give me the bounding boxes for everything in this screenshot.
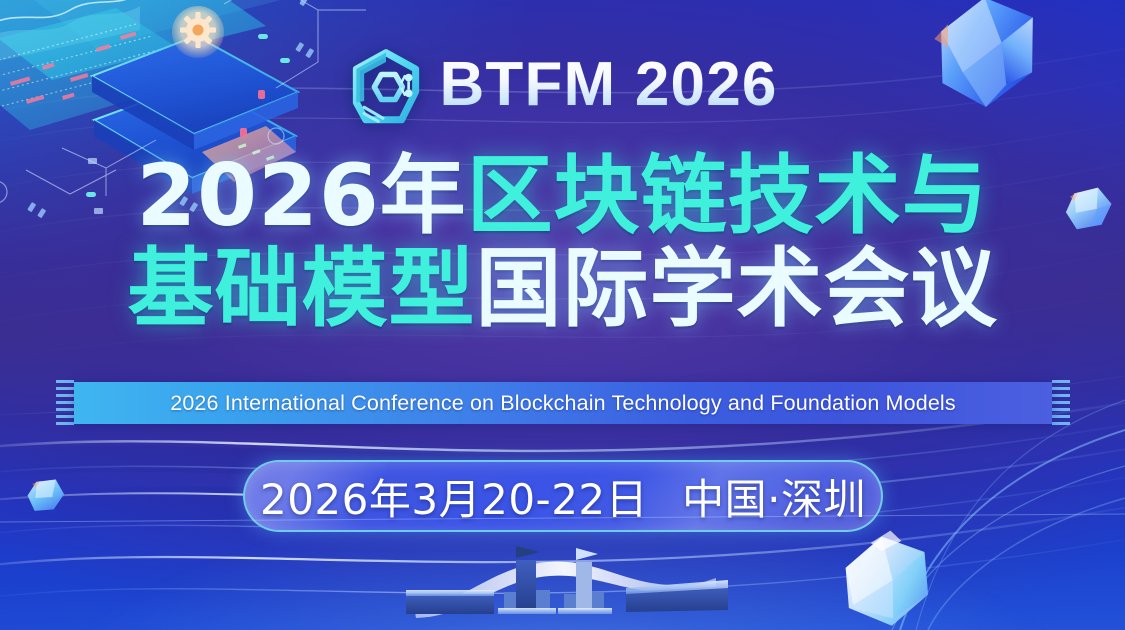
shenzhen-skyline-silhouette [398, 532, 738, 628]
title-suffix: 国际学术会议 [476, 239, 998, 339]
subtitle-bar: 2026 International Conference on Blockch… [74, 382, 1052, 424]
title-topic-1: 区块链技术与 [467, 146, 989, 246]
date-location-text: 2026年3月20-22日中国·深圳 [260, 466, 866, 527]
blockchain-hexagon-logo-icon [347, 47, 425, 127]
brand-header: BTFM 2026 [0, 47, 1125, 127]
subtitle-text: 2026 International Conference on Blockch… [74, 391, 1052, 416]
event-location: 中国·深圳 [682, 475, 866, 524]
title-topic-2: 基础模型 [128, 239, 476, 339]
page-title: 2026年区块链技术与 基础模型国际学术会议 [0, 152, 1125, 335]
conference-banner: BTFM 2026 2026年区块链技术与 基础模型国际学术会议 2026 In… [0, 0, 1125, 630]
date-location-pill: 2026年3月20-22日中国·深圳 [243, 460, 883, 532]
conference-acronym: BTFM 2026 [439, 54, 777, 120]
title-line-2: 基础模型国际学术会议 [0, 245, 1125, 334]
subtitle-bar-left-edge [56, 380, 74, 426]
title-line-1: 2026年区块链技术与 [0, 152, 1125, 241]
event-date: 2026年3月20-22日 [260, 475, 648, 524]
title-year: 2026年 [136, 146, 466, 246]
subtitle-bar-right-edge [1052, 380, 1070, 426]
